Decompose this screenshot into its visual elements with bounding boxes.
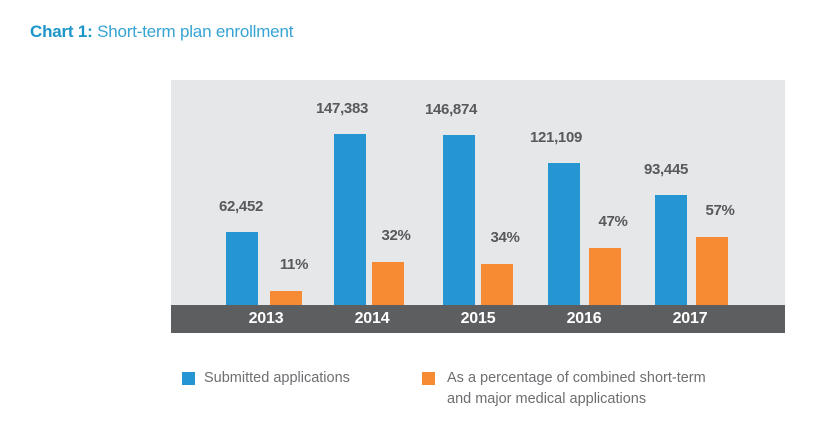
legend-swatch-icon-0 xyxy=(182,372,195,385)
x-axis-tick-2017: 2017 xyxy=(635,305,745,333)
bar-2016-submitted-value-label: 121,109 xyxy=(516,129,596,146)
chart-title-prefix: Chart 1: xyxy=(30,22,93,41)
bar-2014-percentage-value-label: 32% xyxy=(356,227,436,244)
bar-2014-percentage xyxy=(372,262,404,305)
bar-2017-percentage-value-label: 57% xyxy=(680,202,760,219)
bar-2015-percentage-value-label: 34% xyxy=(465,229,545,246)
bar-2016-percentage xyxy=(589,248,621,305)
chart-legend: Submitted applicationsAs a percentage of… xyxy=(0,362,832,417)
x-axis-tick-2014: 2014 xyxy=(317,305,427,333)
bar-2013-submitted-value-label: 62,452 xyxy=(201,198,281,215)
bar-2014-submitted xyxy=(334,134,366,305)
legend-label-1-line2: and major medical applications xyxy=(447,389,706,410)
x-axis-tick-2013: 2013 xyxy=(211,305,321,333)
chart-figure: Chart 1: Short-term plan enrollment 62,4… xyxy=(0,0,832,425)
x-axis-year-band: 20132014201520162017 xyxy=(171,305,785,333)
chart-title-text: Short-term plan enrollment xyxy=(93,22,294,41)
legend-label-0: Submitted applications xyxy=(204,368,350,389)
bar-2017-percentage xyxy=(696,237,728,305)
legend-label-1: As a percentage of combined short-terman… xyxy=(447,368,706,410)
bar-2015-submitted-value-label: 146,874 xyxy=(411,101,491,118)
chart-title: Chart 1: Short-term plan enrollment xyxy=(30,22,293,42)
bar-2013-percentage-value-label: 11% xyxy=(254,256,334,273)
bar-2017-submitted-value-label: 93,445 xyxy=(626,161,706,178)
bar-2015-submitted xyxy=(443,135,475,305)
bar-2015-percentage xyxy=(481,264,513,305)
plot-area: 62,45211%147,38332%146,87434%121,10947%9… xyxy=(171,80,785,305)
legend-swatch-icon-1 xyxy=(422,372,435,385)
x-axis-tick-2016: 2016 xyxy=(529,305,639,333)
bar-2016-percentage-value-label: 47% xyxy=(573,213,653,230)
bar-2014-submitted-value-label: 147,383 xyxy=(302,100,382,117)
bar-2013-percentage xyxy=(270,291,302,305)
bar-2016-submitted xyxy=(548,163,580,305)
x-axis-tick-2015: 2015 xyxy=(423,305,533,333)
bars-layer: 62,45211%147,38332%146,87434%121,10947%9… xyxy=(171,80,785,305)
